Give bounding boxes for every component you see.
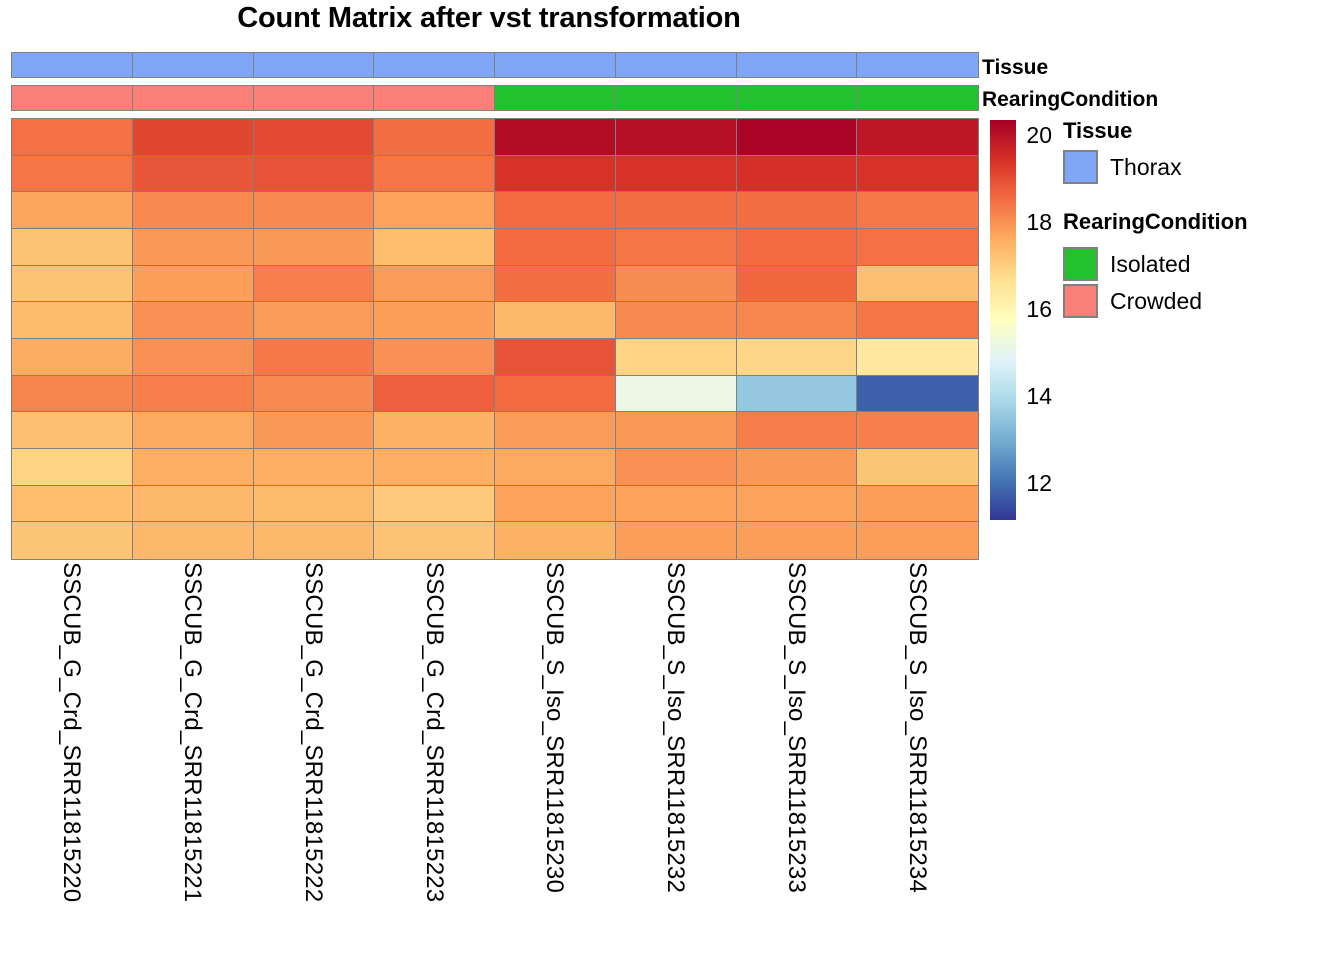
heatmap-cell [132, 485, 254, 523]
heatmap-cell [736, 265, 858, 303]
legend-label-crowded: Crowded [1110, 288, 1202, 315]
legend-label-thorax: Thorax [1110, 154, 1182, 181]
heatmap-cell [373, 411, 495, 449]
heatmap-cell [11, 191, 133, 229]
heatmap-cell [615, 485, 737, 523]
heatmap-cell [615, 301, 737, 339]
annotation-label-rearing-condition: RearingCondition [982, 88, 1158, 112]
heatmap-cell [736, 375, 858, 413]
annotation-rearing-cell [856, 85, 978, 111]
heatmap-cell [615, 191, 737, 229]
heatmap-cell [373, 485, 495, 523]
heatmap-cell [253, 228, 375, 266]
heatmap-cell [373, 375, 495, 413]
heatmap-cell [494, 155, 616, 193]
heatmap-cell [494, 228, 616, 266]
heatmap-cell [132, 191, 254, 229]
annotation-bar-tissue [11, 52, 977, 78]
heatmap-cell [132, 338, 254, 376]
heatmap-grid [11, 118, 977, 558]
heatmap-cell [253, 338, 375, 376]
annotation-rearing-cell [736, 85, 858, 111]
heatmap-cell [132, 228, 254, 266]
heatmap-cell [736, 301, 858, 339]
heatmap-cell [856, 265, 978, 303]
annotation-rearing-cell [373, 85, 495, 111]
heatmap-cell [494, 485, 616, 523]
heatmap-cell [615, 411, 737, 449]
heatmap-cell [856, 375, 978, 413]
heatmap-cell [253, 521, 375, 559]
colorbar-tick-20: 20 [1018, 122, 1052, 149]
heatmap-cell [253, 485, 375, 523]
page-title: Count Matrix after vst transformation [0, 2, 978, 35]
heatmap-cell [494, 521, 616, 559]
colorbar-tick-12: 12 [1018, 470, 1052, 497]
heatmap-cell [856, 228, 978, 266]
heatmap-cell [494, 411, 616, 449]
heatmap-cell [373, 118, 495, 156]
heatmap-cell [736, 338, 858, 376]
heatmap-cell [856, 301, 978, 339]
heatmap-cell [132, 265, 254, 303]
column-label-slot: SSCUB_G_Crd_SRR11815221 [132, 562, 253, 958]
heatmap-cell [856, 521, 978, 559]
heatmap-cell [132, 375, 254, 413]
column-label: SSCUB_S_Iso_SRR11815232 [661, 562, 689, 893]
heatmap-figure: Count Matrix after vst transformation Ti… [0, 0, 1344, 960]
column-label: SSCUB_S_Iso_SRR11815230 [540, 562, 568, 893]
column-label-slot: SSCUB_G_Crd_SRR11815223 [373, 562, 494, 958]
heatmap-cell [373, 521, 495, 559]
heatmap-cell [615, 228, 737, 266]
column-label-slot: SSCUB_S_Iso_SRR11815234 [856, 562, 977, 958]
annotation-tissue-cell [373, 52, 495, 78]
heatmap-cell [373, 301, 495, 339]
legend-title-rearing-condition: RearingCondition [1063, 209, 1248, 235]
column-label: SSCUB_G_Crd_SRR11815220 [57, 562, 85, 902]
heatmap-cell [132, 118, 254, 156]
heatmap-cell [494, 338, 616, 376]
heatmap-cell [253, 155, 375, 193]
heatmap-cell [736, 411, 858, 449]
heatmap-cell [11, 301, 133, 339]
heatmap-cell [253, 191, 375, 229]
colorbar-tick-16: 16 [1018, 296, 1052, 323]
heatmap-cell [736, 191, 858, 229]
heatmap-cell [494, 118, 616, 156]
column-label-slot: SSCUB_G_Crd_SRR11815222 [253, 562, 374, 958]
heatmap-cell [736, 448, 858, 486]
annotation-rearing-cell [615, 85, 737, 111]
heatmap-cell [253, 448, 375, 486]
heatmap-cell [253, 265, 375, 303]
heatmap-cell [856, 411, 978, 449]
annotation-tissue-cell [856, 52, 978, 78]
column-label: SSCUB_G_Crd_SRR11815221 [178, 562, 206, 902]
annotation-tissue-cell [736, 52, 858, 78]
heatmap-cell [11, 448, 133, 486]
heatmap-cell [11, 228, 133, 266]
annotation-tissue-cell [132, 52, 254, 78]
heatmap-cell [132, 301, 254, 339]
heatmap-cell [11, 155, 133, 193]
annotation-tissue-cell [253, 52, 375, 78]
heatmap-cell [494, 301, 616, 339]
column-label: SSCUB_S_Iso_SRR11815233 [782, 562, 810, 893]
heatmap-cell [856, 485, 978, 523]
annotation-rearing-cell [132, 85, 254, 111]
heatmap-cell [11, 521, 133, 559]
heatmap-cell [494, 375, 616, 413]
heatmap-cell [615, 118, 737, 156]
legend-swatch-crowded [1063, 284, 1098, 318]
heatmap-cell [11, 375, 133, 413]
annotation-label-tissue: Tissue [982, 56, 1048, 80]
heatmap-cell [253, 411, 375, 449]
heatmap-cell [373, 155, 495, 193]
colorbar-tick-14: 14 [1018, 383, 1052, 410]
heatmap-cell [615, 265, 737, 303]
column-label: SSCUB_G_Crd_SRR11815223 [420, 562, 448, 902]
column-label-slot: SSCUB_G_Crd_SRR11815220 [11, 562, 132, 958]
legend-swatch-isolated [1063, 247, 1098, 281]
heatmap-cell [856, 118, 978, 156]
heatmap-cell [736, 521, 858, 559]
heatmap-cell [11, 338, 133, 376]
legend-item-crowded: Crowded [1063, 284, 1202, 318]
heatmap-cell [856, 155, 978, 193]
heatmap-cell [615, 448, 737, 486]
column-label: SSCUB_G_Crd_SRR11815222 [299, 562, 327, 902]
heatmap-cell [736, 118, 858, 156]
column-label: SSCUB_S_Iso_SRR11815234 [903, 562, 931, 893]
heatmap-cell [373, 228, 495, 266]
heatmap-cell [856, 191, 978, 229]
heatmap-cell [373, 448, 495, 486]
heatmap-cell [736, 485, 858, 523]
heatmap-cell [373, 265, 495, 303]
heatmap-cell [494, 265, 616, 303]
column-label-slot: SSCUB_S_Iso_SRR11815230 [494, 562, 615, 958]
colorbar-gradient [990, 120, 1016, 520]
annotation-tissue-cell [494, 52, 616, 78]
heatmap-cell [253, 118, 375, 156]
legend-title-tissue: Tissue [1063, 118, 1132, 144]
heatmap-cell [253, 301, 375, 339]
annotation-rearing-cell [11, 85, 133, 111]
heatmap-cell [132, 521, 254, 559]
heatmap-cell [856, 338, 978, 376]
annotation-rearing-cell [494, 85, 616, 111]
heatmap-cell [615, 375, 737, 413]
heatmap-cell [615, 338, 737, 376]
heatmap-cell [736, 155, 858, 193]
heatmap-cell [253, 375, 375, 413]
heatmap-cell [11, 265, 133, 303]
annotation-tissue-cell [615, 52, 737, 78]
heatmap-cell [615, 521, 737, 559]
legend-label-isolated: Isolated [1110, 251, 1191, 278]
heatmap-cell [373, 338, 495, 376]
colorbar-tick-18: 18 [1018, 209, 1052, 236]
annotation-rearing-cell [253, 85, 375, 111]
heatmap-cell [11, 118, 133, 156]
column-labels: SSCUB_G_Crd_SRR11815220SSCUB_G_Crd_SRR11… [11, 562, 977, 958]
heatmap-cell [856, 448, 978, 486]
heatmap-cell [494, 448, 616, 486]
legend-item-thorax: Thorax [1063, 150, 1182, 184]
colorbar [990, 120, 1016, 520]
heatmap-cell [736, 228, 858, 266]
annotation-bar-rearing-condition [11, 85, 977, 111]
heatmap-cell [132, 155, 254, 193]
heatmap-cell [132, 448, 254, 486]
heatmap-cell [11, 485, 133, 523]
annotation-tissue-cell [11, 52, 133, 78]
heatmap-cell [615, 155, 737, 193]
heatmap-cell [11, 411, 133, 449]
heatmap-cell [373, 191, 495, 229]
legend-swatch-thorax [1063, 150, 1098, 184]
heatmap-cell [132, 411, 254, 449]
heatmap-cell [494, 191, 616, 229]
column-label-slot: SSCUB_S_Iso_SRR11815232 [615, 562, 736, 958]
legend-item-isolated: Isolated [1063, 247, 1191, 281]
column-label-slot: SSCUB_S_Iso_SRR11815233 [736, 562, 857, 958]
